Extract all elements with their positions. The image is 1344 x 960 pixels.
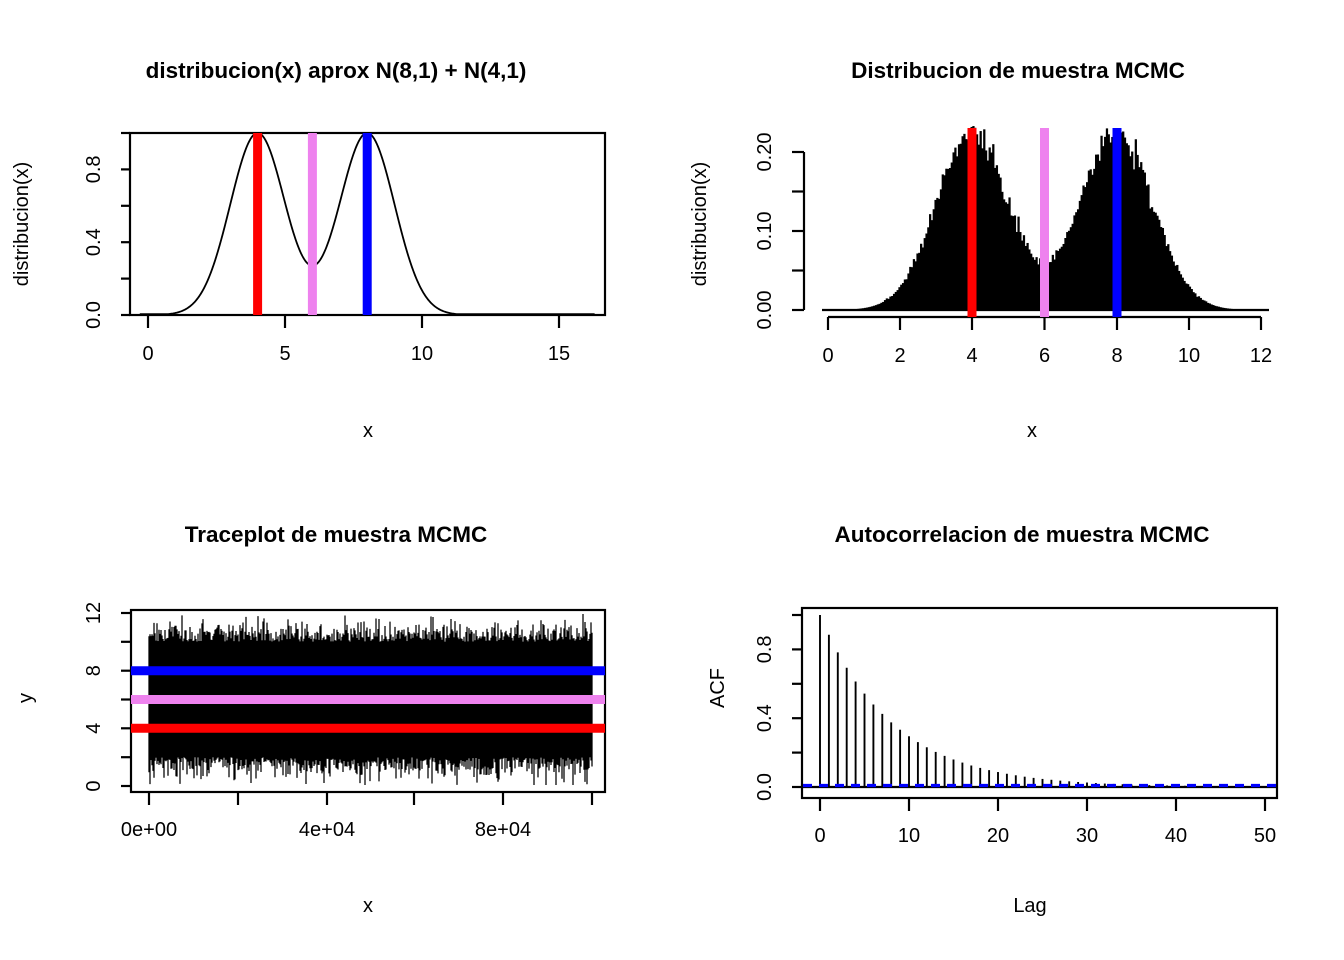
acf-y-ticks xyxy=(792,615,802,787)
density-plot-x-ticks xyxy=(148,315,559,328)
histogram-ytick-020: 0.20 xyxy=(754,133,776,172)
traceplot-xlabel: x xyxy=(363,895,373,917)
histogram-xtick-8: 8 xyxy=(1111,345,1122,367)
density-plot-xtick-0: 0 xyxy=(142,343,153,365)
traceplot-y-ticks xyxy=(121,613,131,786)
acf-xtick-0: 0 xyxy=(814,825,825,847)
panel-acf-plot: Autocorrelacion de muestra MCMC ACF Lag … xyxy=(672,480,1344,960)
acf-xtick-10: 10 xyxy=(898,825,920,847)
acf-xtick-20: 20 xyxy=(987,825,1009,847)
histogram-xlabel: x xyxy=(1027,420,1037,442)
traceplot-xtick-8e4: 8e+04 xyxy=(475,819,531,841)
density-plot-ytick-4: 0.8 xyxy=(83,155,105,183)
traceplot-x-ticks xyxy=(149,792,592,805)
traceplot-ytick-12: 12 xyxy=(83,602,105,624)
histogram-xtick-12: 12 xyxy=(1250,345,1272,367)
histogram-ylabel: distribucion(x) xyxy=(689,162,711,286)
density-plot-xlabel: x xyxy=(363,420,373,442)
acf-ytick-08: 0.8 xyxy=(754,635,776,663)
density-plot-title: distribucion(x) aprox N(8,1) + N(4,1) xyxy=(146,58,527,83)
density-plot-xtick-10: 10 xyxy=(411,343,433,365)
acf-x-ticks xyxy=(820,798,1265,811)
histogram-title: Distribucion de muestra MCMC xyxy=(851,58,1185,83)
acf-xtick-40: 40 xyxy=(1165,825,1187,847)
histogram-y-axis xyxy=(792,152,804,310)
acf-stems xyxy=(820,615,1274,787)
traceplot-ylabel: y xyxy=(15,693,37,703)
figure-canvas: distribucion(x) aprox N(8,1) + N(4,1) di… xyxy=(0,0,1344,960)
histogram-xtick-10: 10 xyxy=(1178,345,1200,367)
histogram-xtick-0: 0 xyxy=(822,345,833,367)
panel-mcmc-histogram: Distribucion de muestra MCMC distribucio… xyxy=(672,0,1344,480)
histogram-xtick-4: 4 xyxy=(966,345,977,367)
acf-ytick-04: 0.4 xyxy=(754,704,776,732)
traceplot-xtick-4e4: 4e+04 xyxy=(299,819,355,841)
acf-title: Autocorrelacion de muestra MCMC xyxy=(834,522,1209,547)
acf-xtick-50: 50 xyxy=(1254,825,1276,847)
acf-xtick-30: 30 xyxy=(1076,825,1098,847)
density-plot-ylabel: distribucion(x) xyxy=(11,162,33,286)
acf-xlabel: Lag xyxy=(1013,895,1046,917)
acf-ytick-00: 0.0 xyxy=(754,773,776,801)
histogram-ytick-010: 0.10 xyxy=(754,212,776,251)
density-plot-xtick-15: 15 xyxy=(548,343,570,365)
panel-density-plot: distribucion(x) aprox N(8,1) + N(4,1) di… xyxy=(0,0,672,480)
density-plot-ytick-2: 0.4 xyxy=(83,228,105,256)
panel-traceplot: Traceplot de muestra MCMC y x 0 4 8 12 xyxy=(0,480,672,960)
histogram-xtick-2: 2 xyxy=(894,345,905,367)
traceplot-xtick-0: 0e+00 xyxy=(121,819,177,841)
traceplot-title: Traceplot de muestra MCMC xyxy=(185,522,488,547)
density-plot-ytick-0: 0.0 xyxy=(83,301,105,329)
histogram-x-axis xyxy=(828,317,1261,330)
density-plot-xtick-5: 5 xyxy=(279,343,290,365)
acf-ylabel: ACF xyxy=(707,668,729,708)
histogram-xtick-6: 6 xyxy=(1039,345,1050,367)
traceplot-ytick-8: 8 xyxy=(83,665,105,676)
density-plot-y-ticks xyxy=(121,133,130,315)
histogram-ytick-000: 0.00 xyxy=(754,291,776,330)
traceplot-ytick-4: 4 xyxy=(83,723,105,734)
traceplot-ytick-0: 0 xyxy=(83,780,105,791)
